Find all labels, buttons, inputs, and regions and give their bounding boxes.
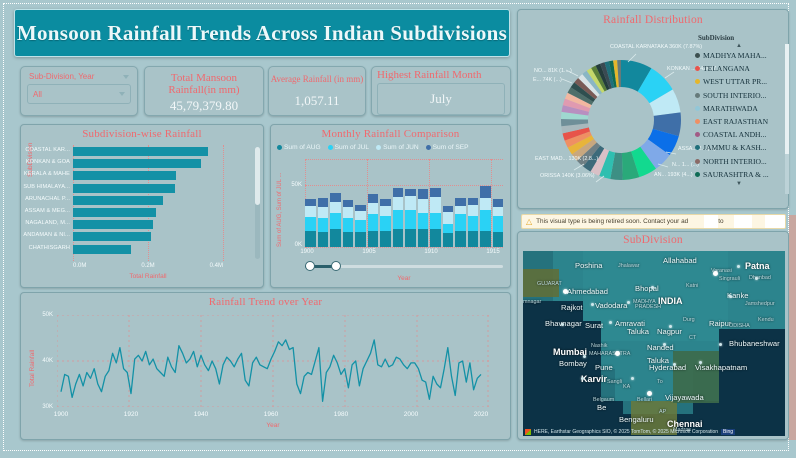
legend-item[interactable]: WEST UTTAR PR... [695, 75, 783, 88]
map-label: Allahabad [663, 256, 697, 265]
map-attribution-text: HERE, Earthstar Geographics SIO, © 2025 … [534, 429, 718, 435]
map-point[interactable] [591, 303, 594, 306]
map-label: MAHARASHTRA [589, 351, 630, 357]
legend-label: Sum of AUG [284, 144, 321, 151]
legend-label: SAURASHTRA & ... [703, 170, 769, 179]
bar-row-fill[interactable] [73, 171, 176, 180]
map-label: Jamshedpur [745, 301, 775, 307]
stack-segment[interactable] [380, 231, 391, 247]
bar-row[interactable]: KONKAN & GOA [73, 159, 223, 171]
bar-row[interactable]: ASSAM & MEG... [73, 208, 223, 220]
map-label: ODISHA [729, 323, 750, 329]
stacked-bar[interactable] [480, 186, 491, 247]
kpi-total-label-2: Rainfall(in mm) [145, 84, 263, 96]
legend-item[interactable]: MARATHWADA [695, 102, 783, 115]
stack-segment[interactable] [405, 189, 416, 196]
bar-row-fill[interactable] [73, 208, 156, 217]
map-label: AP [659, 409, 666, 415]
stack-segment[interactable] [493, 216, 504, 231]
trend-line-svg [57, 315, 489, 407]
stack-segment[interactable] [480, 210, 491, 231]
map-label: Kendu [758, 317, 774, 323]
map-point[interactable] [609, 321, 612, 324]
legend-label: Sum of JUN [383, 144, 419, 151]
stack-segment[interactable] [468, 198, 479, 205]
legend-color-dot [695, 172, 700, 177]
map-point[interactable] [615, 351, 620, 356]
map-point[interactable] [729, 295, 732, 298]
map-point[interactable] [631, 377, 634, 380]
stack-segment[interactable] [318, 198, 329, 207]
stack-segment[interactable] [443, 224, 454, 234]
slicer-header[interactable]: Sub-Division, Year [27, 71, 131, 84]
map-label: Nanded [647, 343, 674, 352]
stack-segment[interactable] [380, 199, 391, 206]
stack-segment[interactable] [330, 229, 341, 247]
subdivision-year-slicer[interactable]: Sub-Division, Year All [20, 66, 138, 116]
chevron-down-icon[interactable]: ▼ [695, 181, 783, 187]
warning-triangle-icon: △ [526, 218, 532, 226]
occluding-box-3 [765, 215, 786, 229]
kpi-month-value-box: July [377, 83, 505, 115]
stack-segment[interactable] [305, 217, 316, 231]
stack-segment[interactable] [455, 214, 466, 231]
legend-item[interactable]: SOUTH INTERIO... [695, 89, 783, 102]
kpi-month-label: Highest Rainfall Month [377, 69, 505, 81]
map-label: Mumbai [553, 347, 587, 357]
legend-color-dot [695, 106, 700, 111]
map-label: GUJARAT [537, 281, 562, 287]
map-point[interactable] [737, 265, 740, 268]
legend-color-dot [695, 145, 700, 150]
map-label: Be [597, 403, 606, 412]
rainfall-trend-chart[interactable]: Rainfall Trend over Year Total Rainfall … [20, 292, 511, 440]
stack-segment[interactable] [393, 188, 404, 198]
stack-segment[interactable] [305, 199, 316, 206]
bar-row-label: CHATHISGARH [29, 245, 70, 251]
bar-xtick: 0.4M [210, 263, 223, 269]
legend-item[interactable]: JAMMU & KASH... [695, 141, 783, 154]
bar-row[interactable]: ARUNACHAL P... [73, 196, 223, 208]
subdivision-map[interactable]: SubDivision PoshinaJhalawarAllahabadVara… [517, 231, 789, 440]
bar-row-fill[interactable] [73, 147, 208, 156]
donut-callout-5: ORISSA 140K (3.06%) [540, 173, 595, 180]
map-point[interactable] [699, 361, 702, 364]
legend-color-dot [695, 66, 700, 71]
stacked-bar[interactable] [443, 206, 454, 247]
map-point[interactable] [651, 286, 654, 289]
stack-segment[interactable] [305, 206, 316, 217]
map-label: Dhanbad [749, 275, 771, 281]
bar-row-label: KONKAN & GOA [26, 159, 70, 165]
stack-segment[interactable] [393, 197, 404, 210]
legend-color-dot [328, 145, 333, 150]
monthly-rainfall-chart[interactable]: Monthly Rainfall Comparison Sum of AUGSu… [270, 124, 511, 288]
monthly-ytick-0k: 0K [295, 242, 302, 248]
bar-row-fill[interactable] [73, 220, 153, 229]
stack-segment[interactable] [368, 214, 379, 231]
bar-xtick: 0.2M [141, 263, 154, 269]
donut-chart-title: Rainfall Distribution [518, 14, 788, 26]
kpi-total-value: 45,79,379.80 [145, 98, 263, 114]
stack-segment[interactable] [493, 207, 504, 217]
legend-label: Sum of JUL [335, 144, 369, 151]
map-label: INDIA [658, 296, 683, 306]
bar-row-label: ARUNACHAL P... [25, 196, 70, 202]
stack-segment[interactable] [405, 196, 416, 209]
stack-segment[interactable] [318, 218, 329, 231]
stack-segment[interactable] [430, 229, 441, 247]
slider-handle-left[interactable] [305, 261, 315, 271]
legend-item[interactable]: Sum of AUG [277, 144, 321, 151]
legend-label: JAMMU & KASH... [703, 143, 767, 152]
trend-chart-plot[interactable]: 50K 40K 30K [57, 315, 489, 407]
trend-chart-title: Rainfall Trend over Year [21, 296, 510, 308]
trend-chart-xaxis: 1900192019401960198020002020 [57, 411, 489, 420]
stack-segment[interactable] [480, 231, 491, 247]
bar-chart-xaxis: 0.0M0.2M0.4M [73, 263, 223, 269]
map-point[interactable] [755, 277, 758, 280]
map-label: PRADESH [635, 304, 661, 310]
bar-row[interactable]: NAGALAND, M... [73, 220, 223, 232]
stack-segment[interactable] [443, 233, 454, 247]
kpi-month-value: July [430, 91, 452, 107]
map-point[interactable] [581, 377, 584, 380]
bar-chart-title: Subdivision-wise Rainfall [21, 128, 263, 140]
stack-segment[interactable] [343, 200, 354, 207]
legend-color-dot [695, 159, 700, 164]
stacked-bar[interactable] [405, 189, 416, 247]
kpi-total-label-1: Total Mansoon [145, 72, 263, 84]
stack-segment[interactable] [305, 231, 316, 247]
monthly-xtick: 1915 [486, 249, 499, 255]
map-point[interactable] [647, 391, 652, 396]
bar-row[interactable]: KERALA & MAHE [73, 171, 223, 183]
bar-chart-scrollbar[interactable] [255, 147, 260, 259]
stack-segment[interactable] [318, 207, 329, 219]
map-label: Bhubaneshwar [729, 339, 780, 348]
map-point[interactable] [669, 325, 672, 328]
stack-segment[interactable] [455, 198, 466, 206]
map-label: Bellari [637, 397, 652, 403]
map-label: Sangli [607, 379, 622, 385]
legend-item[interactable]: EAST RAJASTHAN [695, 115, 783, 128]
monthly-chart-xaxis: 1900190519101915 [305, 249, 503, 257]
year-range-slider[interactable] [305, 261, 503, 271]
trend-xtick: 1980 [334, 411, 348, 418]
stacked-bar[interactable] [468, 198, 479, 247]
legend-item[interactable]: TELANGANA [695, 62, 783, 75]
stack-segment[interactable] [380, 206, 391, 216]
stack-segment[interactable] [468, 231, 479, 247]
stack-segment[interactable] [368, 203, 379, 214]
stack-segment[interactable] [393, 229, 404, 247]
stack-segment[interactable] [493, 232, 504, 247]
trend-chart-xlabel: Year [57, 422, 489, 429]
kpi-average-value: 1,057.11 [269, 93, 365, 109]
stack-segment[interactable] [430, 188, 441, 197]
map-label: mnagar [523, 299, 541, 305]
stack-segment[interactable] [330, 193, 341, 203]
legend-color-dot [695, 79, 700, 84]
map-label: Patna [745, 261, 770, 271]
bar-row-label: ANDAMAN & NI... [23, 232, 70, 238]
subdivision-bar-chart[interactable]: Subdivision-wise Rainfall SubDivision CO… [20, 124, 264, 288]
legend-color-dot [277, 145, 282, 150]
slider-handle-right[interactable] [331, 261, 341, 271]
bar-row-label: SUB HIMALAYA... [23, 184, 70, 190]
legend-label: NORTH INTERIO... [703, 157, 767, 166]
page-title: Monsoon Rainfall Trends Across Indian Su… [17, 21, 507, 46]
kpi-total-rainfall: Total Mansoon Rainfall(in mm) 45,79,379.… [144, 66, 264, 116]
stack-segment[interactable] [418, 189, 429, 199]
map-point[interactable] [583, 355, 586, 358]
microsoft-logo-icon [525, 429, 531, 435]
map-point[interactable] [719, 343, 722, 346]
map-point[interactable] [663, 343, 666, 346]
warning-text-tail-1: to [718, 218, 723, 225]
bar-row-label: KERALA & MAHE [24, 171, 70, 177]
bar-chart-xlabel: Total Rainfall [73, 273, 223, 280]
stack-segment[interactable] [480, 186, 491, 198]
bar-row-fill[interactable] [73, 159, 201, 168]
map-label: CT [689, 335, 696, 341]
stack-segment[interactable] [318, 232, 329, 247]
bar-row-fill[interactable] [73, 245, 131, 254]
chevron-down-icon[interactable] [123, 75, 129, 79]
legend-label: MARATHWADA [703, 104, 758, 113]
trend-xtick: 1960 [264, 411, 278, 418]
chevron-down-icon[interactable] [119, 92, 125, 96]
stack-segment[interactable] [330, 202, 341, 213]
legend-label: SOUTH INTERIO... [703, 91, 766, 100]
stack-segment[interactable] [343, 232, 354, 247]
map-label: Vijayawada [665, 393, 704, 402]
legend-scrollbar[interactable] [785, 44, 789, 194]
stack-segment[interactable] [368, 194, 379, 203]
bar-xtick: 0.0M [73, 263, 86, 269]
stack-segment[interactable] [480, 198, 491, 210]
stack-segment[interactable] [405, 229, 416, 247]
stack-segment[interactable] [330, 213, 341, 228]
donut-callout-8: AN... 193K (4...) [654, 172, 693, 179]
right-edge-strip [789, 215, 796, 440]
slicer-label: Sub-Division, Year [29, 72, 94, 81]
legend-title: SubDivision [695, 34, 783, 42]
donut-plot[interactable]: COASTAL KARNATAKA 360K (7.87%) KONKAN ..… [532, 36, 710, 204]
map-label: Jhalawar [618, 263, 640, 269]
legend-item[interactable]: NORTH INTERIO... [695, 155, 783, 168]
map-label: Visakhapatnam [695, 363, 747, 372]
stack-segment[interactable] [443, 212, 454, 224]
stacked-bar[interactable] [355, 205, 366, 247]
stack-segment[interactable] [418, 199, 429, 213]
legend-label: MADHYA MAHA... [703, 51, 767, 60]
legend-color-dot [695, 93, 700, 98]
trend-ytick-30k: 30K [42, 404, 53, 410]
map-point[interactable] [627, 301, 630, 304]
stack-segment[interactable] [355, 232, 366, 247]
map-label: Ahmedabad [567, 287, 608, 296]
map-point[interactable] [673, 363, 676, 366]
monthly-xtick: 1910 [424, 249, 437, 255]
stack-segment[interactable] [368, 231, 379, 247]
stacked-bar[interactable] [368, 194, 379, 247]
stack-segment[interactable] [418, 213, 429, 229]
map-title: SubDivision [518, 234, 788, 246]
stack-segment[interactable] [355, 211, 366, 220]
bar-row[interactable]: SUB HIMALAYA... [73, 184, 223, 196]
map-point[interactable] [713, 271, 718, 276]
map-attribution: HERE, Earthstar Geographics SIO, © 2025 … [523, 427, 785, 436]
legend-item[interactable]: Sum of SEP [426, 144, 469, 151]
slicer-dropdown[interactable]: All [27, 84, 131, 104]
donut-callout-2: NO... 81K (1....) [534, 68, 572, 75]
legend-color-dot [426, 145, 431, 150]
map-label: Bengaluru [619, 415, 654, 424]
stack-segment[interactable] [493, 199, 504, 206]
stacked-bar[interactable] [493, 199, 504, 247]
trend-xtick: 2000 [404, 411, 418, 418]
map-label: Surat [585, 321, 603, 330]
kpi-average-rainfall: Average Rainfall (in mm) 1,057.11 [268, 66, 366, 116]
kpi-highest-rainfall-month: Highest Rainfall Month July [371, 66, 511, 116]
legend-color-dot [695, 132, 700, 137]
map-label: Poshina [575, 261, 602, 270]
stack-segment[interactable] [418, 229, 429, 247]
legend-item[interactable]: SAURASHTRA & ... [695, 168, 783, 181]
legend-label: WEST UTTAR PR... [703, 77, 767, 86]
map-label: Bhopal [635, 284, 659, 293]
bar-row-label: ASSAM & MEG... [25, 208, 70, 214]
map-label: Vadodara [595, 301, 627, 310]
monthly-xtick: 1905 [362, 249, 375, 255]
trend-xtick: 1940 [194, 411, 208, 418]
legend-label: Sum of SEP [433, 144, 469, 151]
stacked-bar[interactable] [430, 188, 441, 247]
map-label: Rajkot [561, 303, 583, 312]
legend-color-dot [695, 53, 700, 58]
monthly-chart-xlabel: Year [305, 275, 503, 282]
stack-segment[interactable] [380, 216, 391, 231]
stack-segment[interactable] [468, 216, 479, 231]
map-point[interactable] [561, 323, 564, 326]
trend-chart-ylabel: Total Rainfall [29, 350, 36, 387]
trend-xtick: 2020 [474, 411, 488, 418]
occluding-box-2 [734, 215, 752, 229]
stacked-bar[interactable] [343, 200, 354, 247]
trend-ytick-50k: 50K [42, 312, 53, 318]
scrollbar-thumb[interactable] [255, 147, 260, 205]
bar-row-label: COASTAL KAR... [25, 147, 70, 153]
bar-chart-plot[interactable]: COASTAL KAR...KONKAN & GOAKERALA & MAHES… [73, 147, 223, 259]
rainfall-distribution-chart[interactable]: Rainfall Distribution COASTAL KARNATAKA … [517, 9, 789, 209]
monthly-chart-legend[interactable]: Sum of AUGSum of JULSum of JUNSum of SEP [277, 144, 507, 151]
bar-row-fill[interactable] [73, 196, 163, 205]
bar-row[interactable]: ANDAMAN & NI... [73, 232, 223, 244]
legend-color-dot [376, 145, 381, 150]
dashboard-header: Monsoon Rainfall Trends Across Indian Su… [14, 9, 510, 57]
stack-segment[interactable] [455, 231, 466, 247]
monthly-chart-title: Monthly Rainfall Comparison [271, 128, 510, 140]
legend-label: EAST RAJASTHAN [703, 117, 768, 126]
stacked-bar[interactable] [305, 199, 316, 247]
donut-callout-4: EAST MAD... 130K (2.8...) [535, 156, 598, 163]
donut-callout-3: E... 74K (...) [533, 77, 562, 84]
stack-segment[interactable] [430, 213, 441, 229]
stacked-bar[interactable] [318, 198, 329, 247]
occluding-box-1 [704, 215, 718, 229]
bar-row-label: NAGALAND, M... [25, 220, 70, 226]
stack-segment[interactable] [430, 197, 441, 212]
stacked-bar[interactable] [393, 188, 404, 247]
map-label: Bombay [559, 359, 587, 368]
stack-segment[interactable] [455, 206, 466, 214]
donut-callout-0: COASTAL KARNATAKA 360K (7.87%) [610, 44, 702, 51]
monthly-chart-ylabel: Sum of AUG, Sum of JUL ... [277, 173, 283, 247]
monthly-ytick-50k: 50K [291, 182, 302, 188]
bar-row[interactable]: COASTAL KAR... [73, 147, 223, 159]
map-canvas[interactable]: PoshinaJhalawarAllahabadVaranasiPatnaGUJ… [523, 251, 785, 436]
trend-xtick: 1900 [54, 411, 68, 418]
legend-color-dot [695, 119, 700, 124]
legend-item[interactable]: MADHYA MAHA... [695, 49, 783, 62]
map-label: Pune [595, 363, 613, 372]
trend-xtick: 1920 [124, 411, 138, 418]
bar-row[interactable]: CHATHISGARH [73, 245, 223, 257]
stacked-bar[interactable] [330, 193, 341, 247]
map-label: KA [623, 384, 630, 390]
map-label: Durg [683, 317, 695, 323]
legend-item[interactable]: COASTAL ANDH... [695, 128, 783, 141]
trend-ytick-40k: 40K [42, 358, 53, 364]
bar-row-fill[interactable] [73, 232, 151, 241]
map-label: Hyderabad [649, 363, 686, 372]
bar-row-fill[interactable] [73, 184, 175, 193]
map-label: Singrauli [719, 276, 740, 282]
stacked-bar[interactable] [380, 199, 391, 247]
stack-segment[interactable] [343, 218, 354, 232]
stack-segment[interactable] [468, 205, 479, 217]
legend-label: COASTAL ANDH... [703, 130, 766, 139]
kpi-average-label: Average Rainfall (in mm) [269, 73, 365, 85]
map-point[interactable] [563, 289, 568, 294]
monthly-xtick: 1900 [300, 249, 313, 255]
dashboard-page: Monsoon Rainfall Trends Across Indian Su… [0, 0, 796, 458]
map-label: Katni [686, 283, 698, 289]
stack-segment[interactable] [393, 210, 404, 228]
donut-legend[interactable]: SubDivision ▲ MADHYA MAHA...TELANGANAWES… [695, 34, 783, 204]
map-label: Nashik [591, 343, 607, 349]
legend-item[interactable]: Sum of JUL [328, 144, 369, 151]
stack-segment[interactable] [405, 210, 416, 230]
map-label: Taluka [627, 327, 649, 336]
monthly-chart-plot[interactable]: 50K 0K [305, 159, 503, 247]
slicer-value: All [33, 90, 42, 99]
map-label: Karvir [581, 374, 607, 384]
legend-item[interactable]: Sum of JUN [376, 144, 419, 151]
map-label: To [657, 379, 663, 385]
retirement-warning-bar[interactable]: △ This visual type is being retired soon… [521, 214, 786, 229]
stacked-bar[interactable] [418, 189, 429, 247]
map-label: Nagpur [657, 327, 682, 336]
legend-label: TELANGANA [703, 64, 750, 73]
stacked-bar[interactable] [455, 198, 466, 247]
bing-tag: Bing [721, 429, 735, 435]
stack-segment[interactable] [343, 207, 354, 217]
warning-text: This visual type is being retired soon. … [536, 218, 688, 225]
stack-segment[interactable] [355, 220, 366, 232]
